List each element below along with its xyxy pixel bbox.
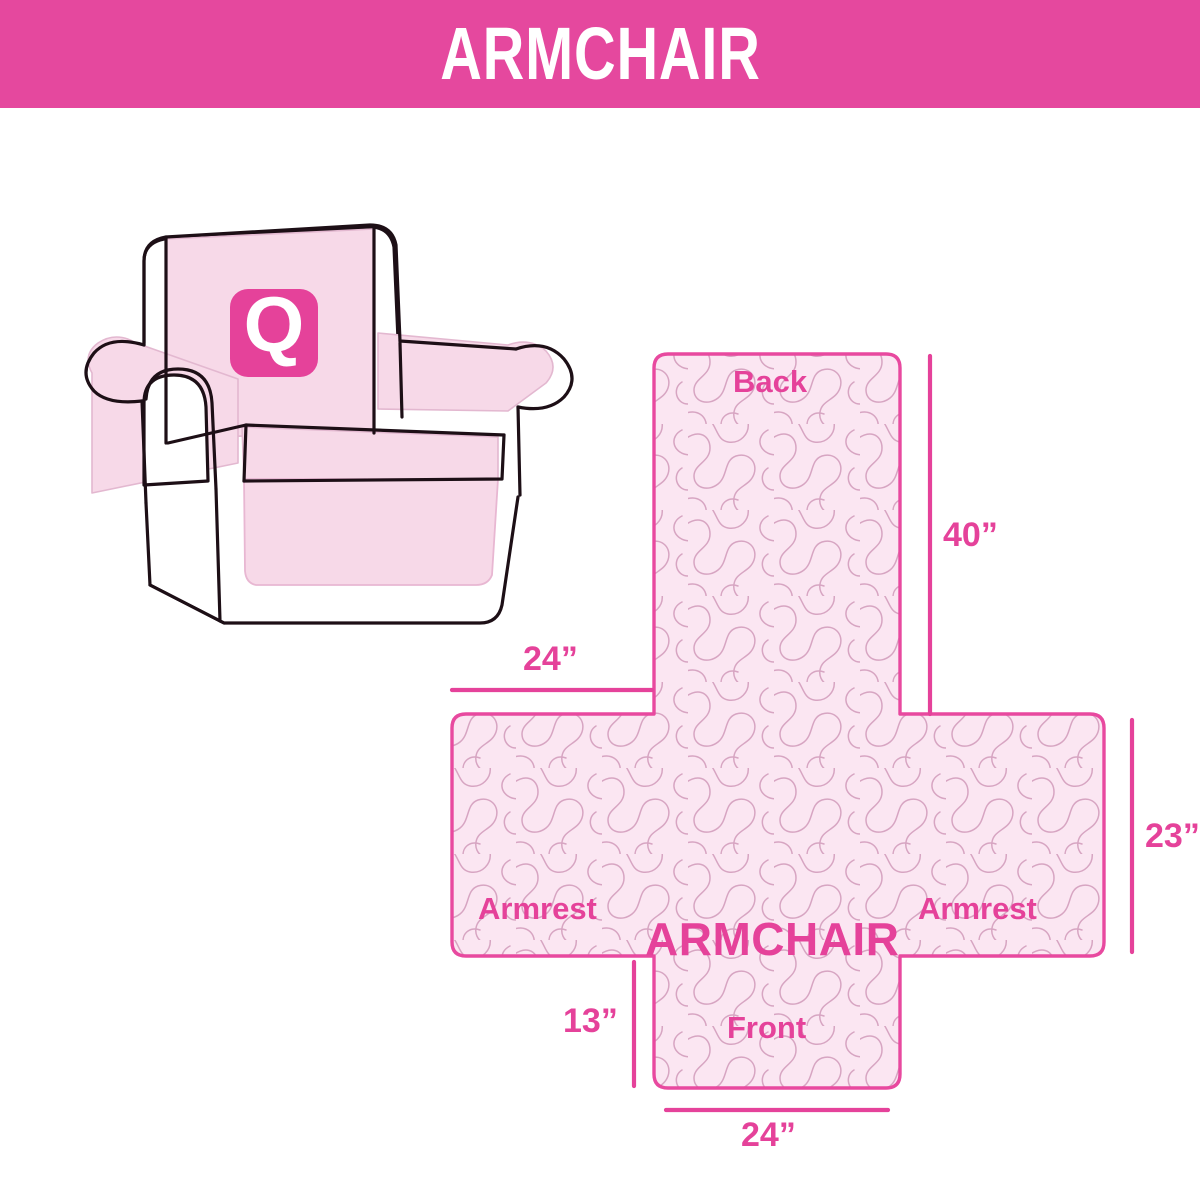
page-title: ARMCHAIR xyxy=(440,17,760,91)
content-area: Q xyxy=(0,108,1200,1200)
panel-label-front: Front xyxy=(727,1010,806,1046)
measure-label-front-height: 13” xyxy=(563,1002,618,1041)
measure-label-front-width: 24” xyxy=(741,1116,796,1155)
measure-label-seat-depth: 23” xyxy=(1145,817,1200,856)
header-banner: ARMCHAIR xyxy=(0,0,1200,108)
cross-panel-body xyxy=(452,354,1104,1088)
svg-text:Q: Q xyxy=(244,280,305,368)
measure-label-armrest-width: 24” xyxy=(523,640,578,679)
brand-logo-badge: Q xyxy=(230,280,318,377)
measure-label-back-height: 40” xyxy=(943,516,998,555)
panel-label-back: Back xyxy=(733,364,807,400)
slipcover-layout-diagram: Back Armrest Armrest Front ARMCHAIR 40” … xyxy=(430,338,1200,1148)
panel-label-armrest-right: Armrest xyxy=(918,891,1037,927)
diagram-center-label: ARMCHAIR xyxy=(645,912,899,966)
panel-label-armrest-left: Armrest xyxy=(478,891,597,927)
